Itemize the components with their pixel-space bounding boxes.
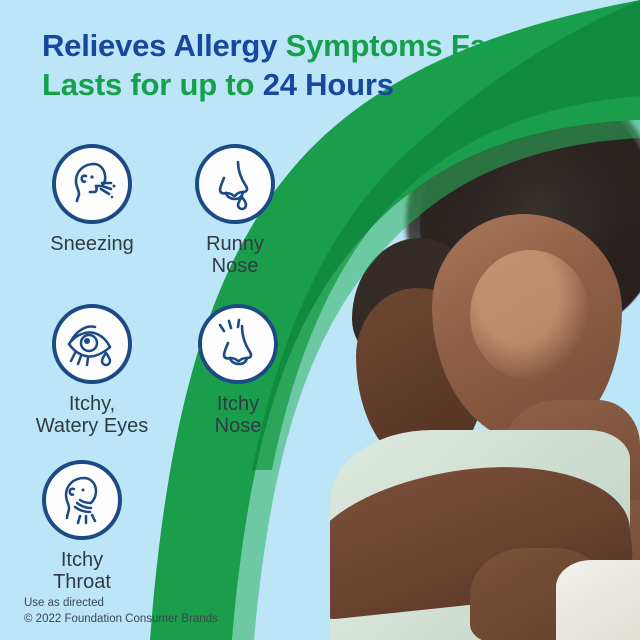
itchy-throat-icon-circle: [42, 460, 122, 540]
sneezing-icon-circle: [52, 144, 132, 224]
symptom-label: Sneezing: [28, 233, 156, 255]
legal-footer: Use as directed © 2022 Foundation Consum…: [24, 595, 218, 628]
symptom-runny-nose: Runny Nose: [180, 144, 290, 278]
nose-droplet-icon: [207, 156, 263, 212]
throat-irritation-icon: [54, 472, 110, 528]
symptom-itchy-watery-eyes: Itchy, Watery Eyes: [12, 304, 172, 438]
symptom-sneezing: Sneezing: [28, 144, 156, 255]
woman-face-highlight: [470, 250, 590, 380]
sneezing-head-icon: [64, 156, 120, 212]
headline-line-2-green: Lasts for up to: [42, 67, 263, 102]
symptom-label: Itchy Throat: [22, 549, 142, 594]
headline-line-1-green: Symptoms Fast: [286, 28, 514, 63]
symptom-label: Itchy Nose: [186, 393, 290, 438]
symptom-itchy-nose: Itchy Nose: [186, 304, 290, 438]
footer-line-use-as-directed: Use as directed: [24, 595, 218, 612]
runny-nose-icon-circle: [195, 144, 275, 224]
headline-line-2: Lasts for up to 24 Hours: [42, 65, 582, 104]
allergy-relief-ad: Relieves Allergy Symptoms Fast Lasts for…: [0, 0, 640, 640]
page-title: Relieves Allergy Symptoms Fast Lasts for…: [42, 26, 582, 104]
itchy-nose-icon-circle: [198, 304, 278, 384]
itchy-eyes-icon-circle: [52, 304, 132, 384]
woman-white-top: [556, 560, 640, 640]
eye-tear-icon: [63, 315, 121, 373]
nose-itch-icon: [210, 316, 266, 372]
symptom-label: Itchy, Watery Eyes: [12, 393, 172, 438]
headline-line-1-blue: Relieves Allergy: [42, 28, 286, 63]
footer-line-copyright: © 2022 Foundation Consumer Brands: [24, 611, 218, 628]
headline-line-1: Relieves Allergy Symptoms Fast: [42, 26, 582, 65]
headline-line-2-blue: 24 Hours: [263, 67, 394, 102]
symptom-label: Runny Nose: [180, 233, 290, 278]
symptom-itchy-throat: Itchy Throat: [22, 460, 142, 594]
